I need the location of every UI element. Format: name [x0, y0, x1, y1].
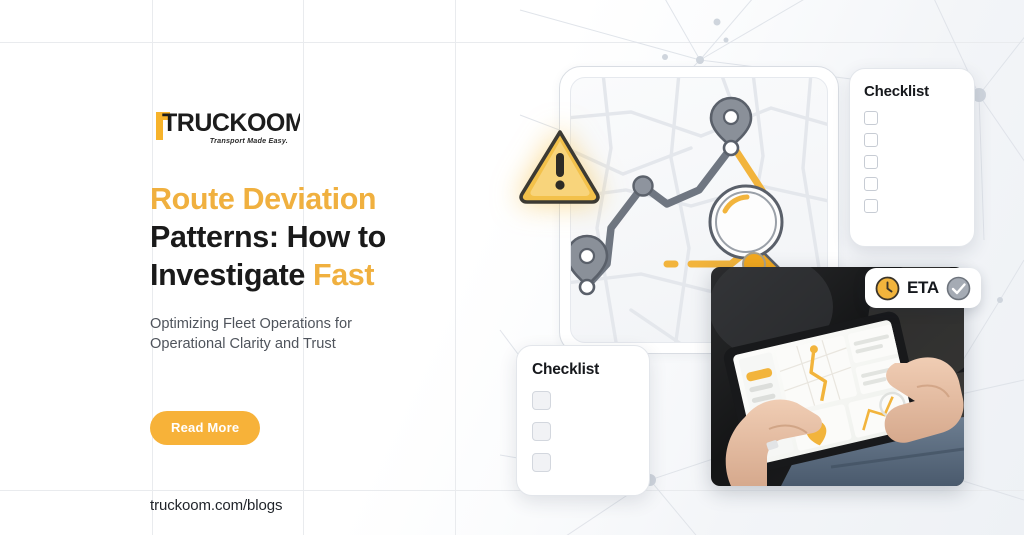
- subtitle: Optimizing Fleet Operations for Operatio…: [150, 314, 480, 354]
- blog-banner: TRUCKOOM Transport Made Easy. Route Devi…: [0, 0, 1024, 535]
- read-more-button[interactable]: Read More: [150, 411, 260, 445]
- headline-line-2: Patterns: How to: [150, 218, 480, 256]
- logo-mark-icon: TRUCKOOM Transport Made Easy.: [150, 104, 300, 150]
- headline-line-3-dark: Investigate: [150, 258, 313, 292]
- page-title: Route Deviation Patterns: How to Investi…: [150, 180, 480, 294]
- headline-line-3-accent: Fast: [313, 258, 374, 292]
- site-url: truckoom.com/blogs: [150, 497, 480, 514]
- truckoom-logo: TRUCKOOM Transport Made Easy.: [150, 104, 300, 150]
- headline-line-1: Route Deviation: [150, 180, 480, 218]
- logo-wordmark: TRUCKOOM: [162, 109, 300, 137]
- subtitle-line-1: Optimizing Fleet Operations for: [150, 314, 480, 334]
- logo-tagline: Transport Made Easy.: [210, 136, 288, 145]
- copy-block: TRUCKOOM Transport Made Easy. Route Devi…: [150, 104, 480, 514]
- subtitle-line-2: Operational Clarity and Trust: [150, 334, 480, 354]
- headline-line-3: Investigate Fast: [150, 256, 480, 294]
